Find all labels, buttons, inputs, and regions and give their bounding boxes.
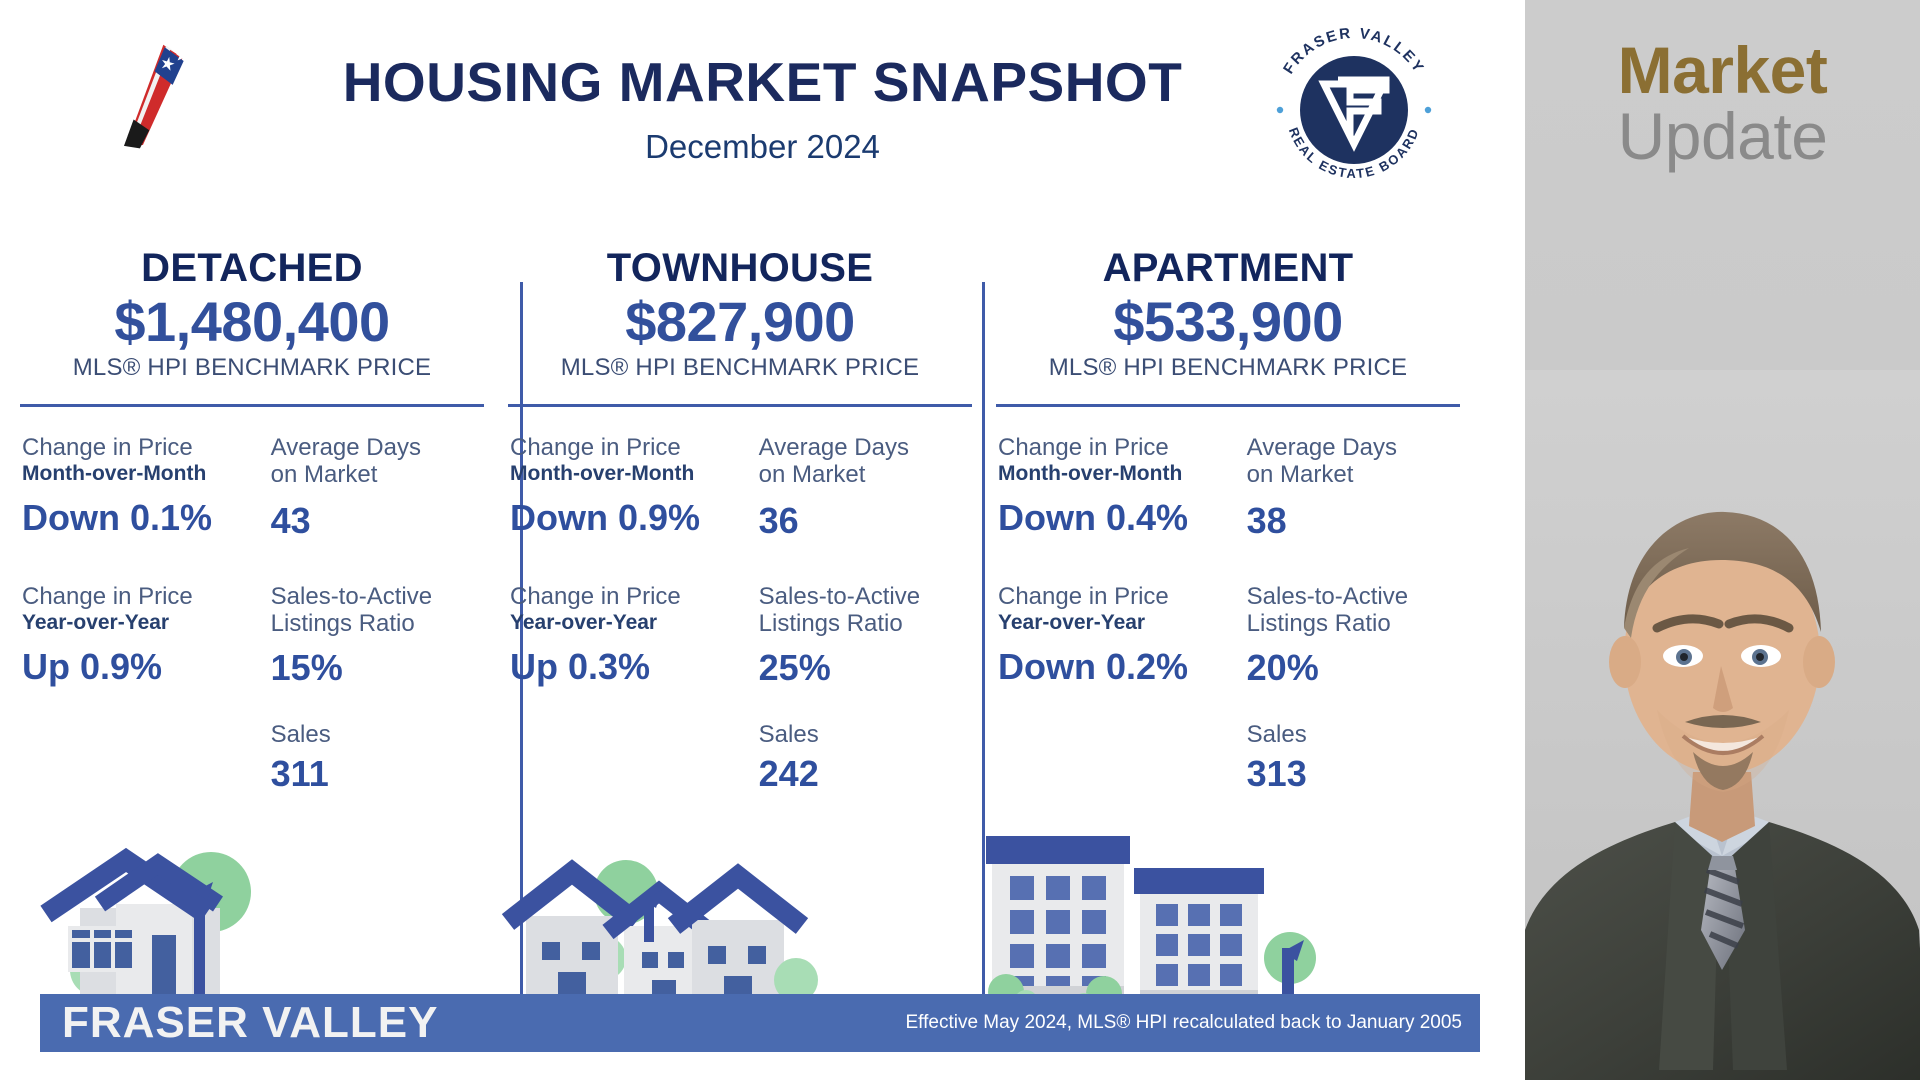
stat-change-mom: Change in Price Month-over-Month Down 0.…: [998, 435, 1223, 540]
stat-value: 242: [759, 753, 970, 795]
stat-sales: Sales 242: [759, 721, 970, 795]
stats-row-2: Change in Price Year-over-Year Up 0.3% S…: [510, 584, 970, 795]
stat-label-line2: on Market: [1247, 462, 1458, 489]
stat-label-line1: Sales-to-Active: [1247, 584, 1458, 611]
stat-label-line2: Listings Ratio: [759, 611, 970, 638]
category-name: TOWNHOUSE: [496, 246, 984, 291]
stats-row-2: Change in Price Year-over-Year Up 0.9% S…: [22, 584, 482, 795]
stat-label-line1: Sales-to-Active: [271, 584, 482, 611]
stat-sublabel: Year-over-Year: [510, 611, 735, 635]
stat-label-line1: Average Days: [271, 435, 482, 462]
stat-label-line2: on Market: [759, 462, 970, 489]
right-panel: Market Update: [1525, 0, 1920, 1080]
stat-label: Change in Price: [998, 435, 1223, 462]
stat-sales: Sales 313: [1247, 721, 1458, 795]
stat-value: 313: [1247, 753, 1458, 795]
stat-label: Change in Price: [22, 584, 247, 611]
stat-value: Down 0.2%: [998, 647, 1223, 687]
stat-sales-to-active: Sales-to-Active Listings Ratio 15% Sales…: [257, 584, 482, 795]
stat-label: Change in Price: [510, 435, 735, 462]
stat-sales: Sales 311: [271, 721, 482, 795]
footer-bar: FRASER VALLEY Effective May 2024, MLS® H…: [40, 994, 1480, 1052]
stats-row-2: Change in Price Year-over-Year Down 0.2%…: [998, 584, 1458, 795]
benchmark-price: $533,900: [984, 293, 1472, 352]
stat-value: 15%: [271, 648, 482, 688]
stat-value: Up 0.9%: [22, 647, 247, 687]
spacer: [510, 540, 970, 584]
stat-change-mom: Change in Price Month-over-Month Down 0.…: [510, 435, 735, 540]
footer-region: FRASER VALLEY: [62, 1001, 438, 1045]
stat-sales-to-active: Sales-to-Active Listings Ratio 20% Sales…: [1233, 584, 1458, 795]
category-columns: DETACHED $1,480,400 MLS® HPI BENCHMARK P…: [0, 240, 1525, 1010]
stats-grid: Change in Price Month-over-Month Down 0.…: [496, 435, 984, 796]
stat-label-line1: Average Days: [1247, 435, 1458, 462]
stat-label: Sales: [1247, 721, 1458, 749]
stats-row-1: Change in Price Month-over-Month Down 0.…: [22, 435, 482, 540]
spacer: [998, 540, 1458, 584]
stat-value: 36: [759, 501, 970, 541]
header: HOUSING MARKET SNAPSHOT December 2024 FR…: [0, 0, 1525, 232]
detached-house-illustration: [8, 830, 496, 1010]
apartment-buildings-illustration: [984, 830, 1472, 1010]
housing-market-snapshot-infographic: HOUSING MARKET SNAPSHOT December 2024 FR…: [0, 0, 1920, 1080]
category-name: DETACHED: [8, 246, 496, 291]
stat-label: Change in Price: [510, 584, 735, 611]
column-detached: DETACHED $1,480,400 MLS® HPI BENCHMARK P…: [8, 240, 496, 1010]
stat-avg-days: Average Days on Market 38: [1233, 435, 1458, 540]
spacer: [22, 540, 482, 584]
stat-avg-days: Average Days on Market 43: [257, 435, 482, 540]
benchmark-price: $827,900: [496, 293, 984, 352]
stat-change-mom: Change in Price Month-over-Month Down 0.…: [22, 435, 247, 540]
column-apartment: APARTMENT $533,900 MLS® HPI BENCHMARK PR…: [984, 240, 1472, 1010]
stat-change-yoy: Change in Price Year-over-Year Up 0.9%: [22, 584, 247, 795]
stat-value: Down 0.1%: [22, 498, 247, 538]
stats-grid: Change in Price Month-over-Month Down 0.…: [984, 435, 1472, 796]
market-update-heading: Market Update: [1525, 38, 1920, 169]
stat-value: 311: [271, 753, 482, 795]
stats-row-1: Change in Price Month-over-Month Down 0.…: [510, 435, 970, 540]
section-rule: [508, 404, 972, 407]
stat-label: Change in Price: [22, 435, 247, 462]
stats-grid: Change in Price Month-over-Month Down 0.…: [8, 435, 496, 796]
stat-label-line2: on Market: [271, 462, 482, 489]
category-name: APARTMENT: [984, 246, 1472, 291]
stat-sublabel: Month-over-Month: [22, 462, 247, 486]
stat-label-line2: Listings Ratio: [1247, 611, 1458, 638]
stat-value: 25%: [759, 648, 970, 688]
footer-note: Effective May 2024, MLS® HPI recalculate…: [905, 1012, 1462, 1034]
stat-change-yoy: Change in Price Year-over-Year Down 0.2%: [998, 584, 1223, 795]
stat-value: 20%: [1247, 648, 1458, 688]
stat-value: 43: [271, 501, 482, 541]
section-rule: [996, 404, 1460, 407]
stat-label: Sales: [271, 721, 482, 749]
stat-value: 38: [1247, 501, 1458, 541]
stat-value: Down 0.9%: [510, 498, 735, 538]
column-townhouse: TOWNHOUSE $827,900 MLS® HPI BENCHMARK PR…: [496, 240, 984, 1010]
stat-value: Up 0.3%: [510, 647, 735, 687]
stat-avg-days: Average Days on Market 36: [745, 435, 970, 540]
section-rule: [20, 404, 484, 407]
stat-change-yoy: Change in Price Year-over-Year Up 0.3%: [510, 584, 735, 795]
stat-label-line1: Sales-to-Active: [759, 584, 970, 611]
stat-sublabel: Year-over-Year: [998, 611, 1223, 635]
stats-row-1: Change in Price Month-over-Month Down 0.…: [998, 435, 1458, 540]
stat-label-line2: Listings Ratio: [271, 611, 482, 638]
townhouse-illustration: [496, 830, 984, 1010]
heading-update: Update: [1525, 103, 1920, 169]
benchmark-label: MLS® HPI BENCHMARK PRICE: [8, 354, 496, 382]
benchmark-label: MLS® HPI BENCHMARK PRICE: [984, 354, 1472, 382]
fraser-valley-real-estate-board-logo: FRASER VALLEY REAL ESTATE BOARD: [1258, 28, 1450, 178]
stat-sublabel: Month-over-Month: [510, 462, 735, 486]
benchmark-price: $1,480,400: [8, 293, 496, 352]
stat-value: Down 0.4%: [998, 498, 1223, 538]
stat-label: Sales: [759, 721, 970, 749]
infographic-panel: HOUSING MARKET SNAPSHOT December 2024 FR…: [0, 0, 1525, 1080]
stat-sales-to-active: Sales-to-Active Listings Ratio 25% Sales…: [745, 584, 970, 795]
heading-market: Market: [1525, 38, 1920, 103]
stat-sublabel: Year-over-Year: [22, 611, 247, 635]
benchmark-label: MLS® HPI BENCHMARK PRICE: [496, 354, 984, 382]
agent-headshot: [1525, 370, 1920, 1080]
stat-label: Change in Price: [998, 584, 1223, 611]
stat-sublabel: Month-over-Month: [998, 462, 1223, 486]
stat-label-line1: Average Days: [759, 435, 970, 462]
